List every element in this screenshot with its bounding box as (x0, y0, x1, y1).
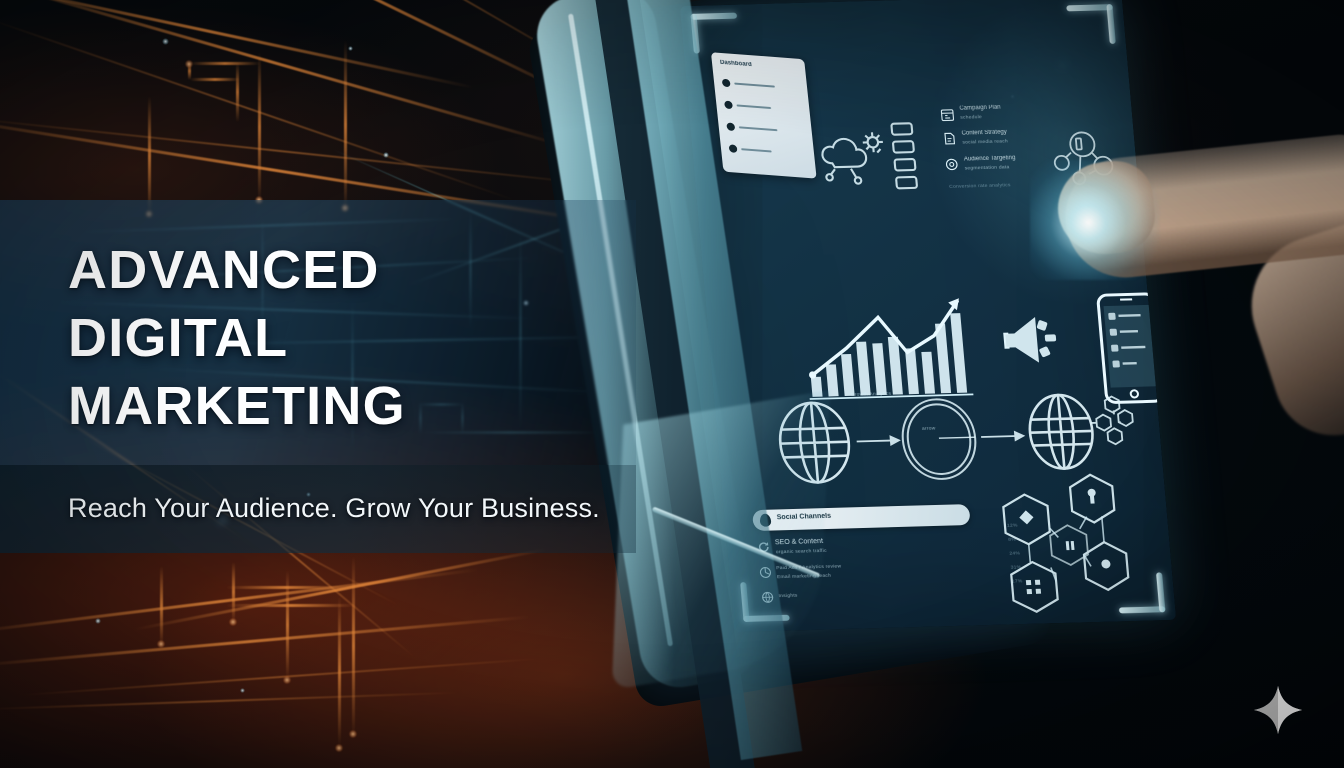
info-list-widget[interactable]: Campaign Plan schedule Content Strategy … (940, 102, 1091, 106)
bullet-icon (729, 144, 738, 153)
info-item-detail: social media reach (962, 138, 1008, 146)
info-item-detail: segmentation data (964, 164, 1009, 172)
sparkle-icon (1250, 682, 1306, 738)
headline-line-3: MARKETING (68, 372, 628, 440)
tablet-device: Dashboard (560, 0, 1260, 730)
page-title: ADVANCED DIGITAL MARKETING (68, 236, 628, 440)
bullet-icon (722, 79, 731, 88)
info-item-title: Audience Targeting (964, 155, 1016, 162)
headline-line-1: ADVANCED (68, 236, 628, 304)
corner-bracket-top-right (1066, 4, 1116, 45)
touch-glow (1030, 160, 1160, 280)
hex-network-widget[interactable] (972, 467, 1154, 621)
info-item-title: Campaign Plan (959, 105, 1001, 112)
headline-line-2: DIGITAL (68, 304, 628, 372)
card-title: Dashboard (720, 60, 752, 68)
page-subtitle: Reach Your Audience. Grow Your Business. (68, 493, 600, 524)
hex-cluster-widget[interactable] (1068, 392, 1145, 467)
megaphone-icon[interactable] (998, 306, 1082, 374)
info-item-title: Content Strategy (961, 130, 1007, 137)
target-icon (945, 158, 959, 171)
document-icon (942, 132, 956, 145)
info-list-footer: Conversion rate analytics (949, 182, 1011, 191)
hero-banner: Dashboard (0, 0, 1344, 768)
bullet-icon (726, 122, 735, 131)
bullet-icon (724, 101, 733, 110)
flow-center-text: arrow (922, 425, 936, 432)
bar-chart-widget[interactable]: Growth Analytics (797, 289, 977, 405)
corner-bracket-top-left (690, 13, 740, 54)
calendar-icon (940, 108, 954, 121)
cloud-network-widget[interactable] (808, 117, 935, 200)
dashboard-list-card[interactable]: Dashboard (711, 52, 817, 178)
info-item-detail: schedule (960, 114, 982, 122)
